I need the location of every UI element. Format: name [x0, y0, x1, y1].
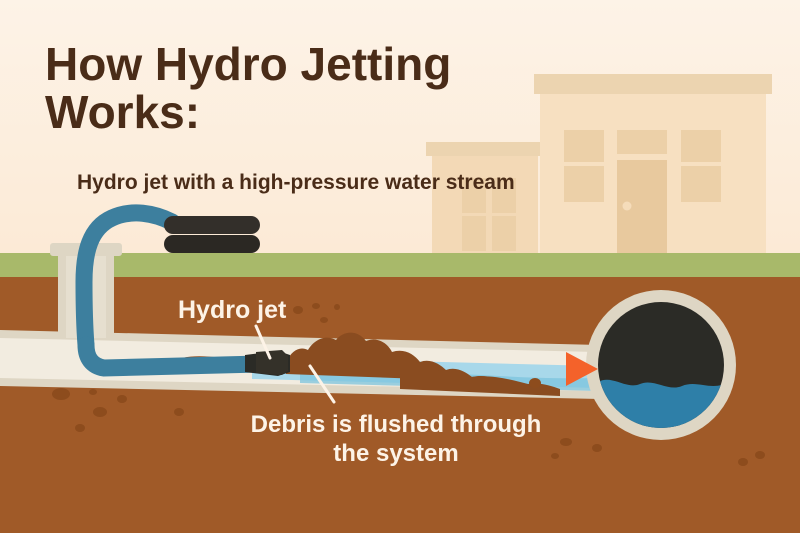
callout-debris-line1: Debris is flushed through	[251, 411, 542, 438]
grass-layer	[0, 253, 800, 277]
page-title-line2: Works:	[45, 86, 200, 138]
page-title-line1: How Hydro Jetting	[45, 38, 451, 90]
pipe-speck	[529, 378, 541, 388]
manhole-chamber	[586, 290, 736, 440]
callout-debris-line2: the system	[333, 440, 458, 467]
hydro-jetting-infographic: How Hydro Jetting Works: Hydro jet with …	[0, 0, 800, 533]
building-large	[534, 74, 772, 257]
page-subtitle: Hydro jet with a high-pressure water str…	[77, 171, 515, 194]
callout-hydro-jet: Hydro jet	[178, 296, 287, 324]
building-small	[426, 142, 544, 257]
door-knob-icon	[623, 202, 632, 211]
